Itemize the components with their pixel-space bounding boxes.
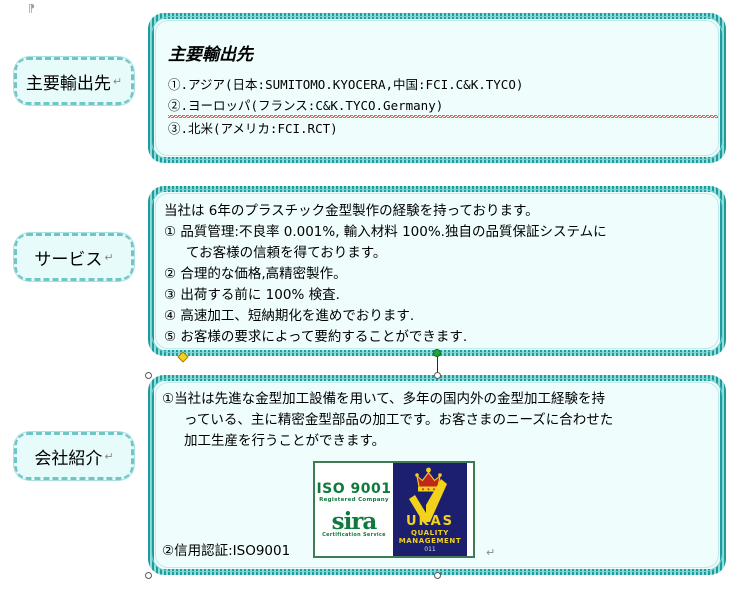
- body-company-profile: ①当社は先進な金型加工設備を用いて、多年の国内外の金型加工経験を持 っている、主…: [162, 389, 722, 452]
- resize-handle-top-center[interactable]: [434, 372, 441, 379]
- iso-ukas-certificate-image: ISO 9001 Registered Company sira Certifi…: [313, 461, 475, 558]
- profile-line-1: ①当社は先進な金型加工設備を用いて、多年の国内外の金型加工経験を持: [162, 389, 722, 410]
- pilcrow-mark: ↵: [104, 450, 113, 463]
- resize-handle-left-bottom[interactable]: [145, 572, 152, 579]
- service-line-2: ② 合理的な価格,高精密製作。: [164, 264, 720, 285]
- service-line-5: ⑤ お客様の要求によって要約することができます.: [164, 327, 720, 348]
- cert-iso-panel: ISO 9001 Registered Company sira Certifi…: [315, 463, 393, 556]
- export-line-asia: ①.アジア(日本:SUMITOMO.KYOCERA,中国:FCI.C&K.TYC…: [168, 74, 718, 95]
- service-line-4: ④ 高速加工、短納期化を進めでおります.: [164, 306, 720, 327]
- chip-label-service: サービス: [34, 245, 102, 270]
- body-service: 当社は 6年のプラスチック金型製作の経験を持っております。 ① 品質管理:不良率…: [164, 201, 720, 348]
- service-line-1-cont: てお客様の信頼を得ております。: [164, 243, 720, 264]
- ukas-management-text: MANAGEMENT: [399, 537, 462, 545]
- ukas-quality-text: QUALITY: [411, 529, 449, 537]
- pilcrow-mark: ↵: [113, 75, 122, 88]
- service-line-3: ③ 出荷する前に 100% 検査.: [164, 285, 720, 306]
- resize-handle-left-top[interactable]: [145, 372, 152, 379]
- service-line-intro: 当社は 6年のプラスチック金型製作の経験を持っております。: [164, 201, 720, 222]
- body-export-destinations: 主要輸出先 ①.アジア(日本:SUMITOMO.KYOCERA,中国:FCI.C…: [168, 40, 718, 139]
- document-canvas: ⁋ 主要輸出先 ↵ 主要輸出先 ①.アジア(日本:SUMITOMO.KYOCER…: [0, 0, 734, 595]
- cert-ukas-panel: UKAS QUALITY MANAGEMENT 011: [393, 463, 467, 556]
- pilcrow-mark: ↵: [104, 251, 113, 264]
- profile-line-2: っている、主に精密金型部品の加工です。お客さまのニーズに合わせた: [162, 410, 722, 431]
- ukas-crown-and-tick-icon: [393, 465, 467, 527]
- chip-service[interactable]: サービス ↵: [14, 233, 134, 281]
- export-line-north-america: ③.北米(アメリカ:FCI.RCT): [168, 118, 718, 139]
- chip-export-destinations[interactable]: 主要輸出先 ↵: [14, 57, 134, 105]
- paragraph-mark-top-left: ⁋: [28, 2, 35, 15]
- pilcrow-mark: ↵: [486, 546, 495, 559]
- rotate-handle-green[interactable]: [433, 349, 441, 357]
- chip-label-company-profile: 会社紹介: [34, 444, 102, 469]
- chip-label-export-destinations: 主要輸出先: [26, 69, 111, 94]
- chip-company-profile[interactable]: 会社紹介 ↵: [14, 432, 134, 480]
- sira-subtitle: Certification Service: [322, 532, 386, 538]
- export-line-europe: ②.ヨーロッパ(フランス:C&K.TYCO.Germany): [168, 95, 718, 118]
- profile-footer-line: ②信用認証:ISO9001: [162, 541, 290, 562]
- heading-export-destinations: 主要輸出先: [168, 40, 718, 65]
- service-line-1: ① 品質管理:不良率 0.001%, 輸入材料 100%.独自の品質保証システム…: [164, 222, 720, 243]
- profile-line-3: 加工生産を行うことができます。: [162, 431, 722, 452]
- ukas-number: 011: [424, 546, 435, 553]
- sira-brand: sira: [322, 512, 386, 532]
- iso-9001-subtitle: Registered Company: [316, 497, 391, 503]
- iso-9001-title: ISO 9001: [316, 481, 391, 497]
- resize-handle-bottom-center[interactable]: [434, 572, 441, 579]
